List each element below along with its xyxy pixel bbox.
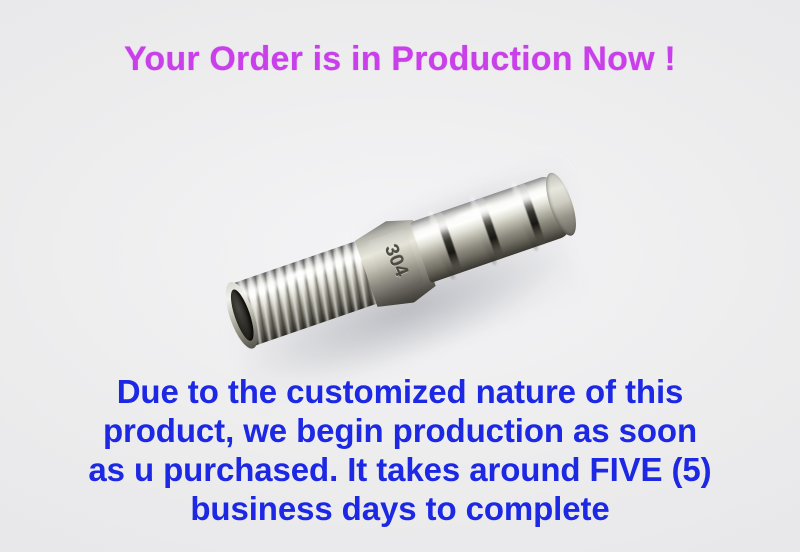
page-title: Your Order is in Production Now ! xyxy=(0,40,800,79)
body-copy: Due to the customized nature of this pro… xyxy=(0,372,800,528)
product-notice-image: Your Order is in Production Now ! 304 xyxy=(0,0,800,552)
body-line-4: business days to complete xyxy=(0,489,800,528)
product-photo: 304 xyxy=(215,150,595,365)
body-line-2: product, we begin production as soon xyxy=(0,411,800,450)
body-line-1: Due to the customized nature of this xyxy=(0,372,800,411)
body-line-3: as u purchased. It takes around FIVE (5) xyxy=(0,450,800,489)
